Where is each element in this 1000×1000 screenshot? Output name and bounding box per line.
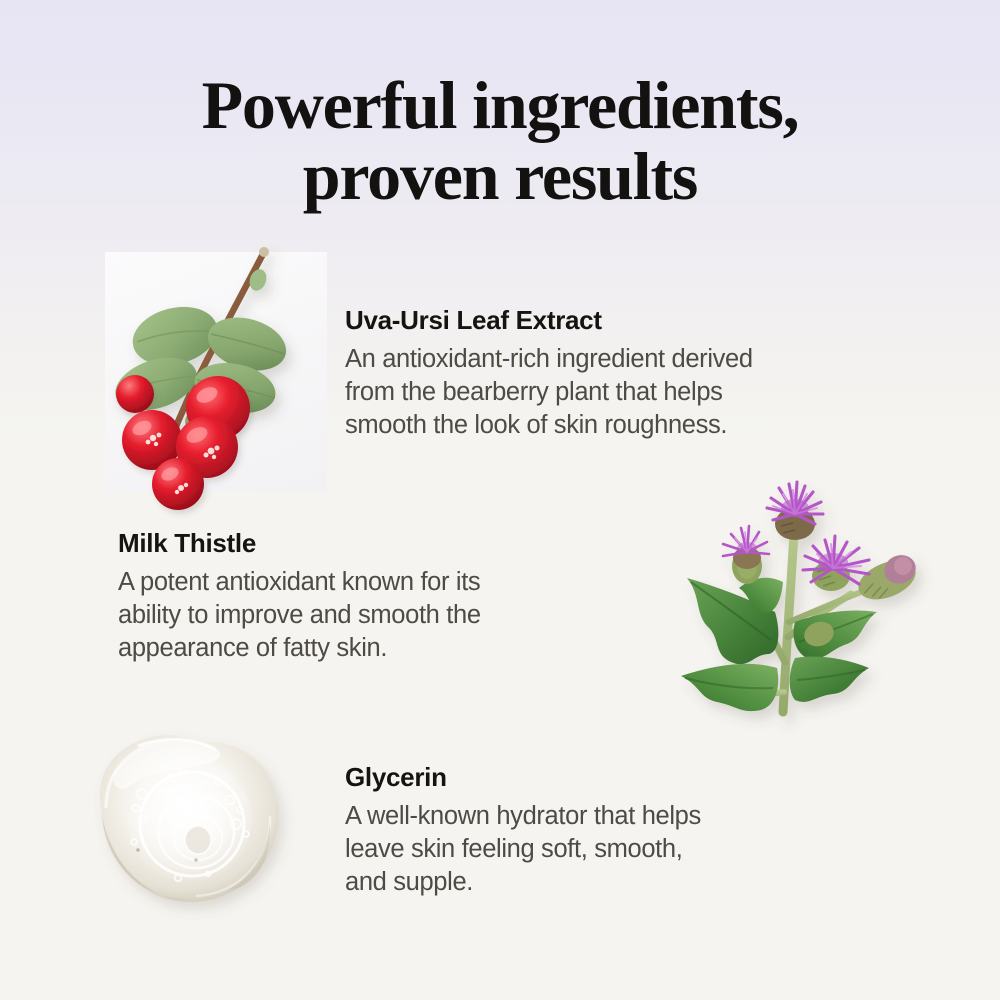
ingredient-block-milk-thistle: Milk Thistle A potent antioxidant known … <box>118 528 678 665</box>
description-line: appearance of fatty skin. <box>118 632 678 665</box>
description-line: and supple. <box>345 866 905 899</box>
ingredient-title: Glycerin <box>345 762 905 793</box>
ingredient-description: A well-known hydrator that helps leave s… <box>345 800 905 899</box>
page-title: Powerful ingredients, proven results <box>0 72 1000 209</box>
headline-line-2: proven results <box>0 143 1000 210</box>
ingredient-title: Milk Thistle <box>118 528 678 559</box>
ingredients-infographic: Powerful ingredients, proven results <box>0 0 1000 1000</box>
milk-thistle-plant-photo <box>655 462 955 720</box>
ingredient-title: Uva-Ursi Leaf Extract <box>345 305 945 336</box>
ingredient-block-glycerin: Glycerin A well-known hydrator that help… <box>345 762 905 899</box>
description-line: leave skin feeling soft, smooth, <box>345 833 905 866</box>
description-line: An antioxidant-rich ingredient derived <box>345 343 945 376</box>
description-line: ability to improve and smooth the <box>118 599 678 632</box>
description-line: A potent antioxidant known for its <box>118 566 678 599</box>
bearberry-sprig-photo <box>95 232 345 502</box>
description-line: smooth the look of skin roughness. <box>345 409 945 442</box>
description-line: from the bearberry plant that helps <box>345 376 945 409</box>
description-line: A well-known hydrator that helps <box>345 800 905 833</box>
glycerin-gel-swatch-photo <box>78 712 308 922</box>
headline-line-1: Powerful ingredients, <box>202 67 799 143</box>
ingredient-description: An antioxidant-rich ingredient derived f… <box>345 343 945 442</box>
ingredient-block-uva-ursi: Uva-Ursi Leaf Extract An antioxidant-ric… <box>345 305 945 442</box>
ingredient-description: A potent antioxidant known for its abili… <box>118 566 678 665</box>
